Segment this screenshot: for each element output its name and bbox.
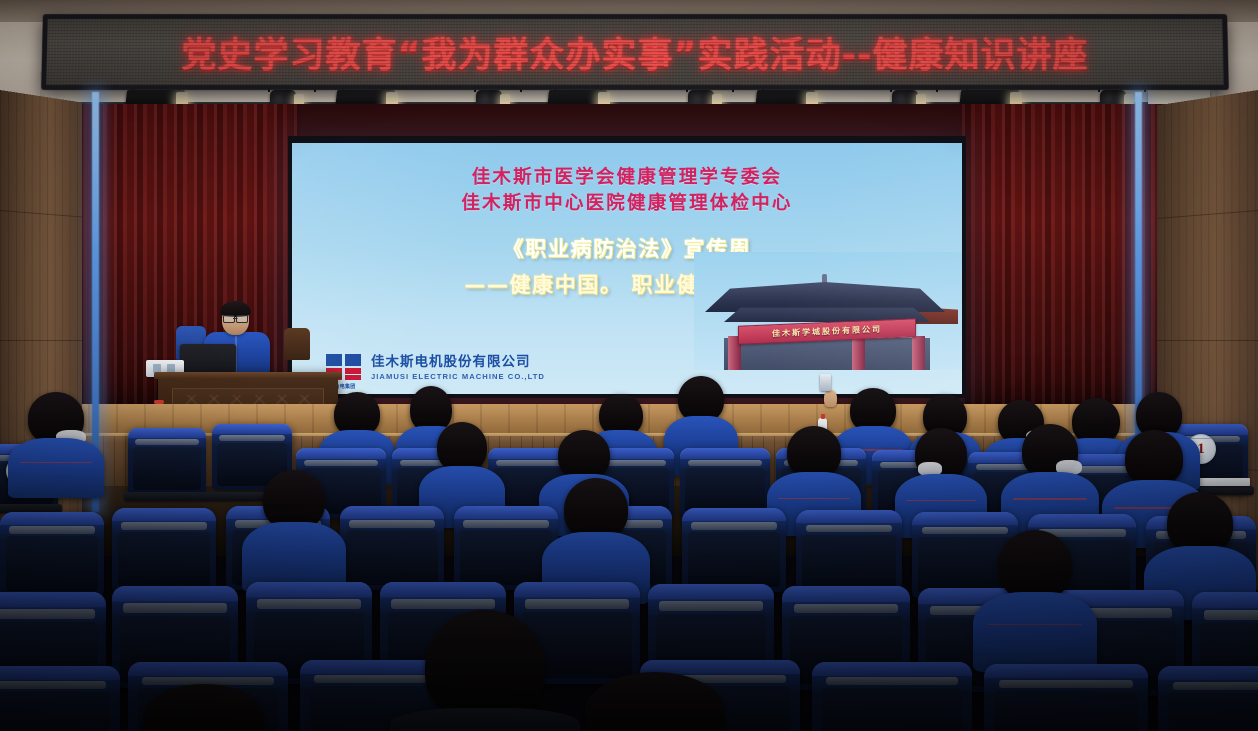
- auditorium-photo: 党史学习教育“我为群众办实事”实践活动--健康知识讲座 佳木斯市医学会健康管理学…: [0, 0, 1258, 731]
- audience-member-foreground: [560, 672, 750, 731]
- audience-head: [1125, 430, 1183, 486]
- seat[interactable]: [128, 428, 206, 494]
- audience-head: [437, 422, 487, 472]
- audience-shoulders: [390, 708, 580, 731]
- seat[interactable]: [682, 508, 786, 592]
- seat[interactable]: [0, 666, 120, 731]
- audience-head: [787, 426, 841, 478]
- audience-shoulders: [973, 592, 1097, 672]
- seat[interactable]: [984, 664, 1148, 731]
- audience-member: [980, 530, 1090, 670]
- audience-head: [585, 672, 725, 731]
- audience-member-foreground: [124, 684, 284, 731]
- audience-head: [1167, 492, 1233, 554]
- raised-hand: [824, 390, 837, 407]
- audience-head: [425, 610, 545, 722]
- seat[interactable]: [112, 508, 216, 592]
- audience-head: [998, 530, 1072, 600]
- audience-member: [10, 392, 102, 502]
- audience-area: 2 1 1: [0, 0, 1258, 731]
- seat[interactable]: [796, 510, 902, 596]
- audience-head: [564, 478, 628, 540]
- seat[interactable]: [1158, 666, 1258, 731]
- seat[interactable]: [340, 506, 444, 590]
- seat[interactable]: [812, 662, 972, 731]
- audience-head: [263, 470, 325, 530]
- smartphone-icon: [820, 374, 831, 391]
- audience-member-foreground: [400, 610, 570, 731]
- audience-head: [558, 430, 610, 480]
- audience-head: [144, 684, 264, 731]
- audience-member: [248, 470, 340, 590]
- seat[interactable]: [0, 512, 104, 596]
- audience-shoulders: [8, 438, 104, 498]
